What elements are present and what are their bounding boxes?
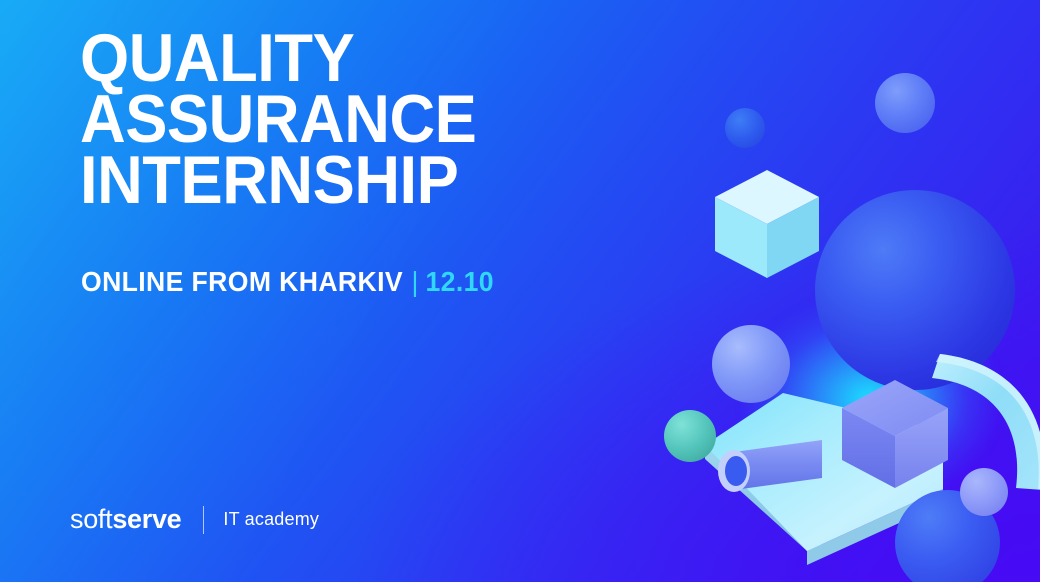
logo-soft-text: soft xyxy=(70,504,112,535)
small-blue-sphere xyxy=(725,108,765,148)
headline-line-2: ASSURANCE xyxy=(80,89,657,150)
cyan-cube-icon xyxy=(715,170,820,280)
page-title: QUALITY ASSURANCE INTERNSHIP xyxy=(80,28,657,212)
teal-sphere xyxy=(664,410,716,462)
headline-line-1: QUALITY xyxy=(80,28,657,89)
periwinkle-sphere-top xyxy=(875,73,935,133)
cylinder-tube xyxy=(712,438,827,508)
softserve-logo: softserve IT academy xyxy=(70,504,319,535)
3d-artwork-composition xyxy=(640,0,1040,582)
logo-serve-text: serve xyxy=(112,504,181,535)
headline-line-3: INTERNSHIP xyxy=(80,150,657,211)
promo-banner: QUALITY ASSURANCE INTERNSHIP ONLINE FROM… xyxy=(0,0,1040,582)
event-subtitle: ONLINE FROM KHARKIV|12.10 xyxy=(81,266,494,298)
bottom-periwinkle-sphere xyxy=(960,468,1008,516)
logo-divider xyxy=(203,506,204,534)
event-location: ONLINE FROM KHARKIV xyxy=(81,266,403,297)
subtitle-separator: | xyxy=(412,266,419,297)
logo-academy-text: IT academy xyxy=(223,509,319,530)
periwinkle-sphere-lower xyxy=(712,325,790,403)
event-date: 12.10 xyxy=(425,266,493,297)
